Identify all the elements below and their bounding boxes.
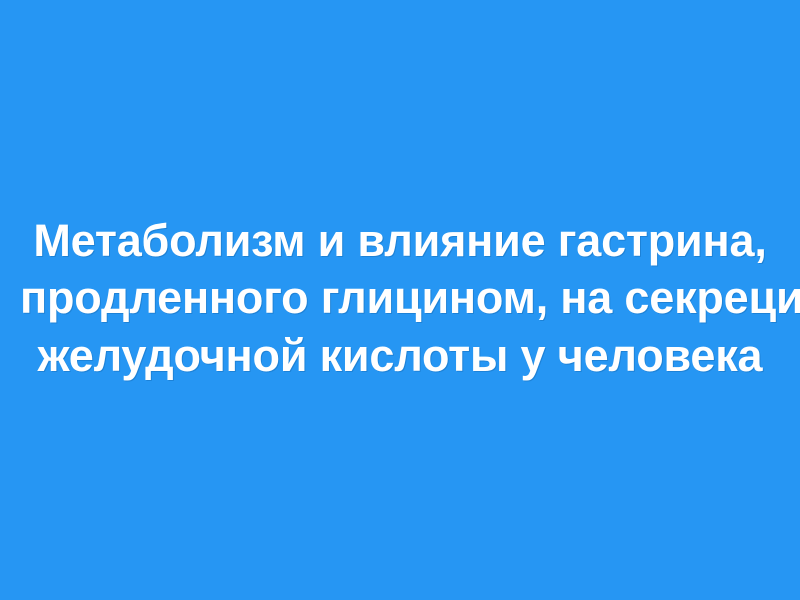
title-line-2: продленного глицином, на секрецию xyxy=(20,269,780,327)
title-line-1: Метаболизм и влияние гастрина, xyxy=(20,212,780,270)
page-title: Метаболизм и влияние гастрина, продленно… xyxy=(20,212,780,389)
title-line-3: желудочной кислоты у человека xyxy=(20,327,780,385)
title-card: Метаболизм и влияние гастрина, продленно… xyxy=(0,0,800,600)
